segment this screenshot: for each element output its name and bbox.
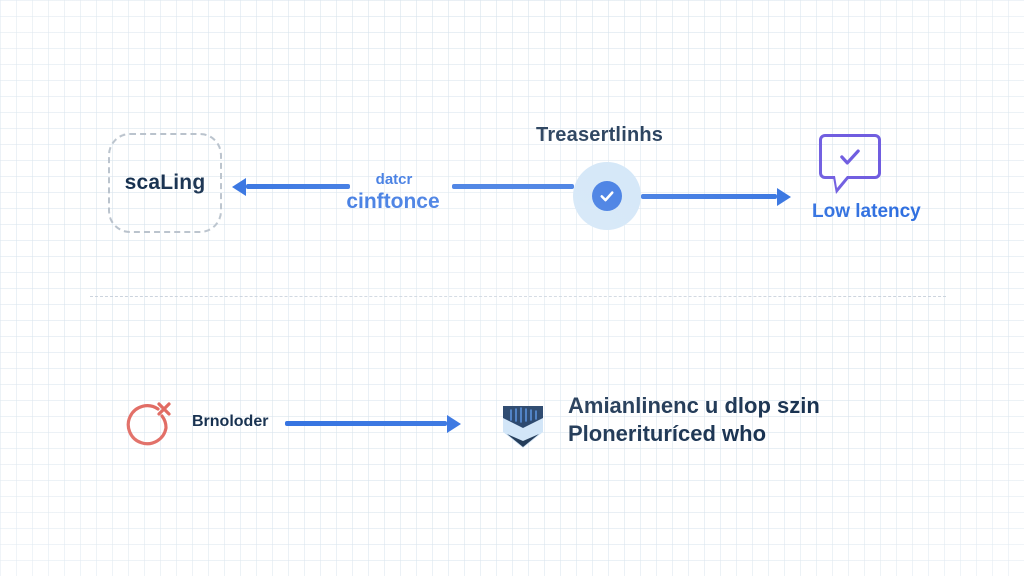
right-arrow-head	[777, 188, 791, 206]
hub-title: Treasertlinhs	[536, 124, 663, 147]
section-divider	[90, 296, 946, 298]
blocked-label: Brnoloder	[192, 413, 268, 431]
bottom-arrow-head	[447, 415, 461, 433]
circle-x-icon-glyph	[124, 398, 176, 452]
scaling-node[interactable]: scaLing	[108, 133, 222, 233]
check-icon	[833, 144, 867, 170]
flow-mid-label-big: cinftonce	[342, 191, 444, 213]
bottom-description-line2: Plonerituríced who	[568, 420, 820, 448]
hub-check-badge	[592, 181, 622, 211]
right-arrow-shaft	[641, 194, 777, 199]
shield-badge-icon-glyph	[497, 398, 549, 450]
bottom-description-line1: Amianlinenc u dlop szin	[568, 392, 820, 420]
circle-x-icon[interactable]	[124, 398, 176, 452]
flow-mid-label-small: datcr	[344, 172, 444, 188]
speech-bubble-tail-inner	[835, 176, 847, 188]
low-latency-label: Low latency	[812, 201, 921, 223]
background-vignette	[0, 0, 1024, 576]
speech-bubble-check-icon[interactable]	[819, 134, 881, 179]
shield-badge-icon[interactable]	[497, 398, 549, 450]
left-arrow-shaft	[246, 184, 350, 189]
hub-inbound-connector	[452, 184, 574, 189]
left-arrow-head	[232, 178, 246, 196]
check-icon	[598, 187, 616, 205]
hub-node[interactable]	[573, 162, 641, 230]
bottom-description: Amianlinenc u dlop szin Plonerituríced w…	[568, 392, 820, 448]
scaling-node-label: scaLing	[125, 171, 206, 195]
flow-mid-label: datcr cinftonce	[344, 172, 444, 213]
diagram-canvas: scaLing datcr cinftonce Treasertlinhs Lo…	[0, 0, 1024, 576]
bottom-arrow-shaft	[285, 421, 447, 426]
